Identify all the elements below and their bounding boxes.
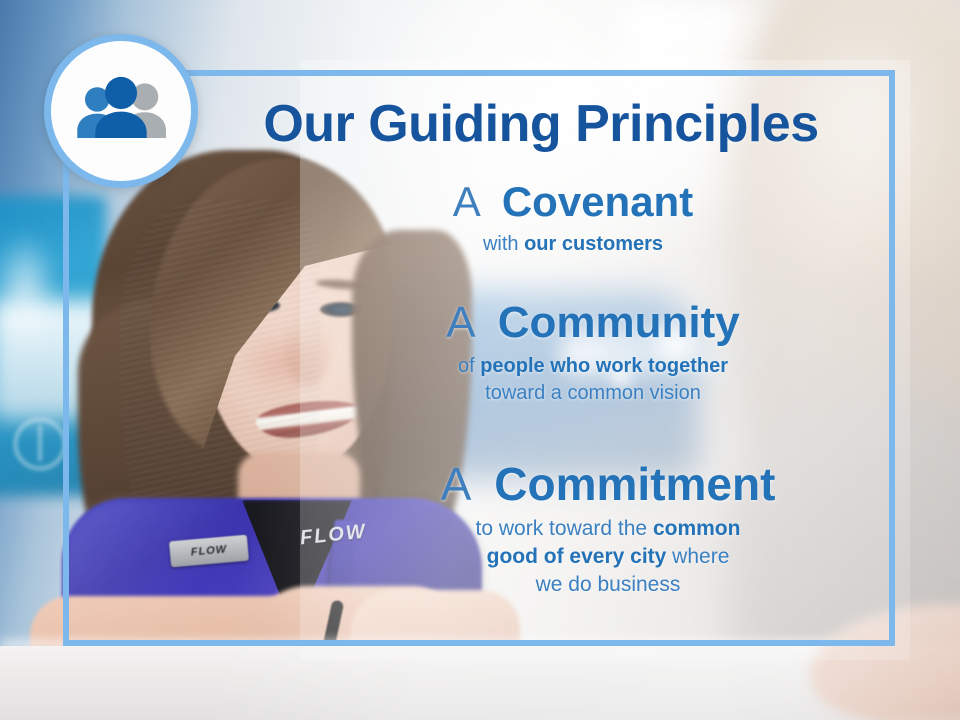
subtext-run: with: [483, 233, 524, 255]
banner-graphic: FLOW FLOW Our Guiding Principles A Coven…: [0, 0, 960, 720]
principle-subtext-line: toward a common vision: [313, 380, 873, 407]
principle-article: A: [446, 298, 485, 347]
principles-badge: [44, 34, 198, 188]
principle-subtext: of people who work together toward a com…: [313, 353, 873, 407]
principle-covenant: A Covenant with our customers: [293, 180, 853, 258]
principle-keyword: Community: [498, 298, 740, 347]
principle-heading: A Covenant: [293, 180, 853, 225]
subtext-run-emphasis: our customers: [524, 233, 663, 255]
content-area: Our Guiding Principles A Covenant with o…: [63, 70, 895, 646]
subtext-run: where: [666, 545, 729, 568]
principle-subtext-line: of people who work together: [313, 353, 873, 380]
people-group-icon: [69, 75, 173, 147]
principle-subtext-line: with our customers: [293, 231, 853, 258]
principle-heading: A Community: [313, 300, 873, 347]
subtext-run: we do business: [536, 573, 681, 596]
subtext-run: toward a common vision: [485, 382, 701, 404]
principle-subtext: to work toward the common good of every …: [323, 515, 893, 600]
principle-community: A Community of people who work together …: [313, 300, 873, 407]
principle-subtext-line: good of every city where: [323, 543, 893, 571]
subtext-run-emphasis: common: [653, 517, 741, 540]
principle-subtext-line: we do business: [323, 571, 893, 599]
principle-article: A: [441, 458, 482, 510]
principle-subtext-line: to work toward the common: [323, 515, 893, 543]
subtext-run: of: [458, 355, 480, 377]
principle-commitment: A Commitment to work toward the common g…: [323, 460, 893, 600]
subtext-run-emphasis: people who work together: [480, 355, 728, 377]
principle-keyword: Commitment: [494, 458, 775, 510]
page-title: Our Guiding Principles: [221, 98, 861, 150]
subtext-run-emphasis: good of every city: [487, 545, 667, 568]
subtext-run: to work toward the: [476, 517, 653, 540]
principle-article: A: [453, 178, 490, 225]
principle-keyword: Covenant: [502, 178, 693, 225]
principle-subtext: with our customers: [293, 231, 853, 258]
principle-heading: A Commitment: [323, 460, 893, 509]
